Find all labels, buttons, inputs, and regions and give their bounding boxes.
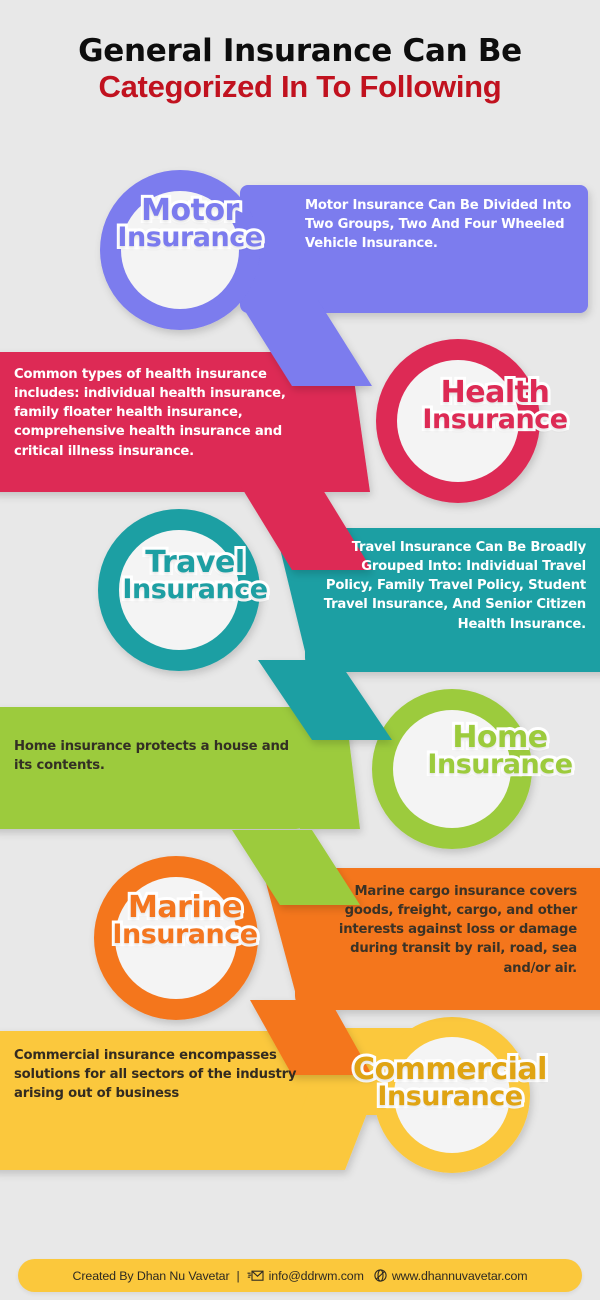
label-health-line1: Health — [330, 378, 600, 407]
label-travel-line2: Insurance — [30, 577, 360, 603]
label-marine-line1: Marine — [10, 893, 360, 922]
footer-email[interactable]: info@ddrwm.com — [269, 1269, 364, 1283]
footer-bar: Created By Dhan Nu Vavetar | info@ddrwm.… — [18, 1259, 582, 1292]
label-commercial-line2: Insurance — [280, 1084, 600, 1110]
label-travel-line1: Travel — [30, 548, 360, 577]
footer-content: Created By Dhan Nu Vavetar | info@ddrwm.… — [73, 1269, 528, 1283]
description-home: Home insurance protects a house and its … — [14, 737, 294, 775]
label-travel[interactable]: Travel Insurance — [30, 548, 360, 604]
footer-website[interactable]: www.dhannuvavetar.com — [392, 1269, 528, 1283]
globe-icon — [374, 1269, 387, 1282]
label-home-line1: Home — [340, 723, 600, 752]
label-commercial[interactable]: Commercial Insurance — [280, 1055, 600, 1111]
description-travel: Travel Insurance Can Be Broadly Grouped … — [322, 538, 586, 634]
description-commercial: Commercial insurance encompasses solutio… — [14, 1046, 310, 1103]
label-health[interactable]: Health Insurance — [330, 378, 600, 434]
label-home-line2: Insurance — [340, 752, 600, 778]
description-health: Common types of health insurance include… — [14, 365, 314, 461]
label-motor-line1: Motor — [0, 196, 380, 225]
footer-separator: | — [235, 1269, 242, 1283]
label-motor[interactable]: Motor Insurance — [0, 196, 380, 252]
label-health-line2: Insurance — [330, 407, 600, 433]
envelope-icon — [247, 1270, 264, 1282]
label-marine-line2: Insurance — [10, 922, 360, 948]
label-marine[interactable]: Marine Insurance — [10, 893, 360, 949]
footer-credit: Created By Dhan Nu Vavetar — [73, 1269, 230, 1283]
label-commercial-line1: Commercial — [280, 1055, 600, 1084]
label-motor-line2: Insurance — [0, 225, 380, 251]
label-home[interactable]: Home Insurance — [340, 723, 600, 779]
